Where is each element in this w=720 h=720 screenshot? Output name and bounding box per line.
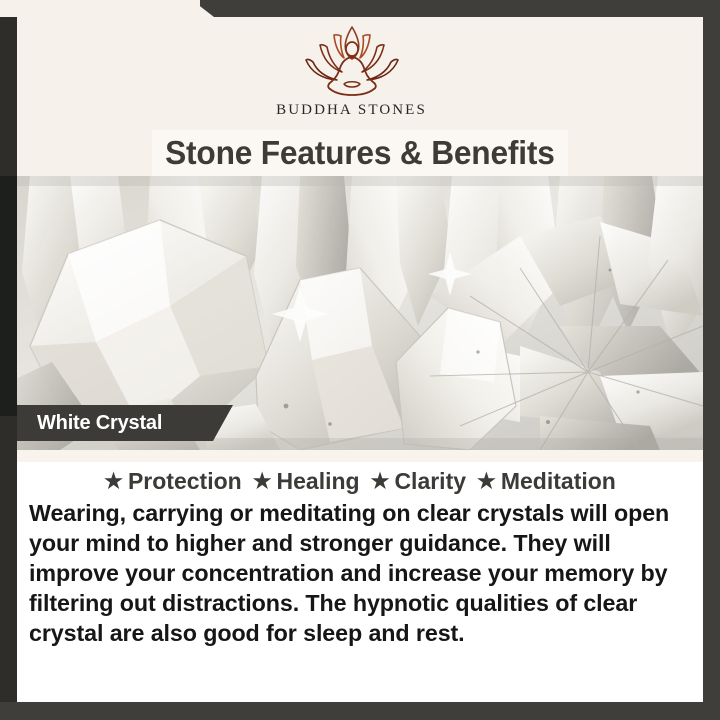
star-icon: ★	[253, 471, 272, 492]
page-title: Stone Features & Benefits	[165, 134, 555, 172]
benefit-item-protection: ★ Protection	[104, 468, 242, 495]
star-icon: ★	[477, 471, 496, 492]
stone-features-card: BUDDHA STONES Stone Features & Benefits	[0, 0, 720, 720]
benefit-label: Protection	[128, 468, 242, 495]
frame-right-edge	[703, 0, 720, 720]
description-text: Wearing, carrying or meditating on clear…	[29, 498, 682, 648]
star-icon: ★	[371, 471, 390, 492]
benefits-row: ★ Protection ★ Healing ★ Clarity ★ Medit…	[17, 468, 703, 495]
benefit-label: Meditation	[501, 468, 616, 495]
frame-left-edge-dark	[0, 176, 17, 416]
brand-name: BUDDHA STONES	[276, 102, 427, 119]
benefit-item-clarity: ★ Clarity	[371, 468, 466, 495]
header-top-left-notch	[0, 0, 200, 18]
title-banner: Stone Features & Benefits	[152, 130, 568, 176]
content-top-strip	[17, 450, 703, 462]
benefit-item-healing: ★ Healing	[253, 468, 360, 495]
lotus-meditation-logo-icon	[294, 22, 410, 98]
content-panel: ★ Protection ★ Healing ★ Clarity ★ Medit…	[17, 450, 703, 702]
brand-logo: BUDDHA STONES	[0, 22, 703, 119]
stone-caption-text: White Crystal	[17, 412, 162, 435]
star-icon: ★	[104, 471, 123, 492]
benefit-label: Clarity	[394, 468, 466, 495]
frame-bottom-bar	[0, 702, 720, 720]
benefit-label: Healing	[277, 468, 360, 495]
stone-caption-banner: White Crystal	[17, 405, 233, 441]
benefit-item-meditation: ★ Meditation	[477, 468, 616, 495]
